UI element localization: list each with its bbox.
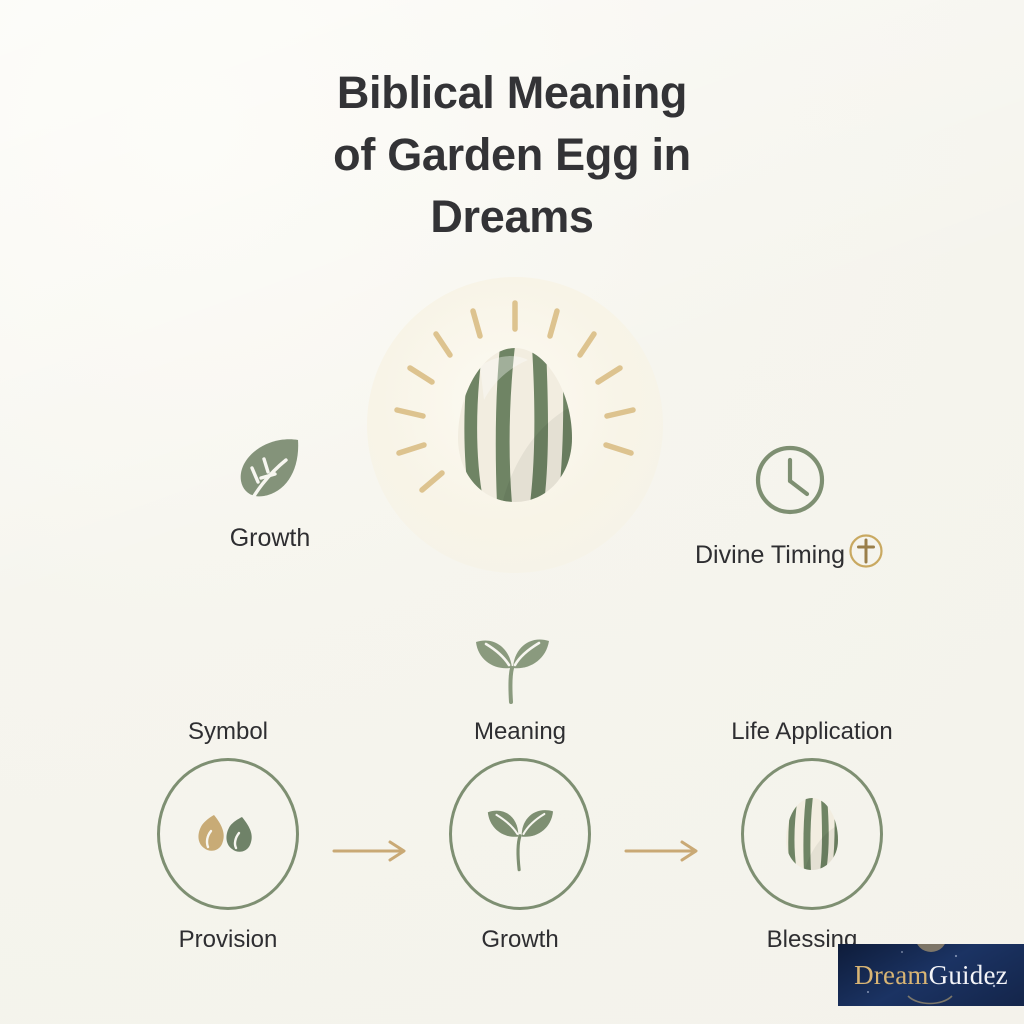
striped-egg-icon-small: [784, 796, 840, 872]
two-seeds-icon: [192, 809, 264, 859]
feature-growth-icon-wrap: [178, 432, 362, 512]
page-title-line-2: of Garden Egg in: [333, 129, 691, 180]
flow-step-1-top-label: Symbol: [188, 718, 268, 746]
feature-growth: Growth: [178, 432, 362, 553]
infographic-canvas: Biblical Meaning of Garden Egg in Dreams: [0, 0, 1024, 1024]
flow-step-life-application[interactable]: Life Application: [724, 718, 900, 954]
sprout-icon: [466, 624, 558, 704]
page-title-line-1: Biblical Meaning: [337, 67, 687, 118]
feature-growth-label: Growth: [230, 524, 311, 553]
clock-icon: [752, 442, 828, 518]
flow-step-1-circle[interactable]: [157, 758, 299, 910]
garden-egg-icon: [454, 346, 576, 504]
watermark-text: DreamGuidez: [854, 960, 1008, 991]
flow-step-2-bottom-label: Growth: [481, 926, 558, 954]
arrow-right-icon-2: [624, 838, 708, 864]
feature-divine-timing-text: Divine Timing: [695, 541, 845, 570]
feature-divine-timing-label: Divine Timing: [695, 532, 885, 579]
flow-step-3-top-label: Life Application: [731, 718, 892, 746]
flow-diagram: Symbol Provision Meaning: [140, 718, 900, 968]
page-title-line-3: Dreams: [430, 191, 593, 242]
flow-step-3-circle[interactable]: [741, 758, 883, 910]
flow-step-symbol[interactable]: Symbol Provision: [140, 718, 316, 954]
cross-in-circle-icon: [847, 532, 885, 577]
feature-divine-timing: Divine Timing: [660, 440, 920, 579]
watermark-brand-second: Guidez: [929, 960, 1008, 990]
flow-step-2-circle[interactable]: [449, 758, 591, 910]
flow-step-1-bottom-label: Provision: [179, 926, 278, 954]
watermark-logo[interactable]: DreamGuidez: [838, 944, 1024, 1006]
sprout-icon-small: [480, 794, 560, 874]
page-title: Biblical Meaning of Garden Egg in Dreams: [0, 62, 1024, 248]
arrow-right-icon-1: [332, 838, 416, 864]
flow-step-2-top-label: Meaning: [474, 718, 566, 746]
flow-step-meaning[interactable]: Meaning Growth: [432, 718, 608, 954]
watermark-brand-first: Dream: [854, 960, 928, 990]
hero-illustration: [367, 277, 663, 573]
leaf-icon: [228, 430, 312, 514]
feature-divine-timing-icon-wrap: [660, 440, 920, 520]
